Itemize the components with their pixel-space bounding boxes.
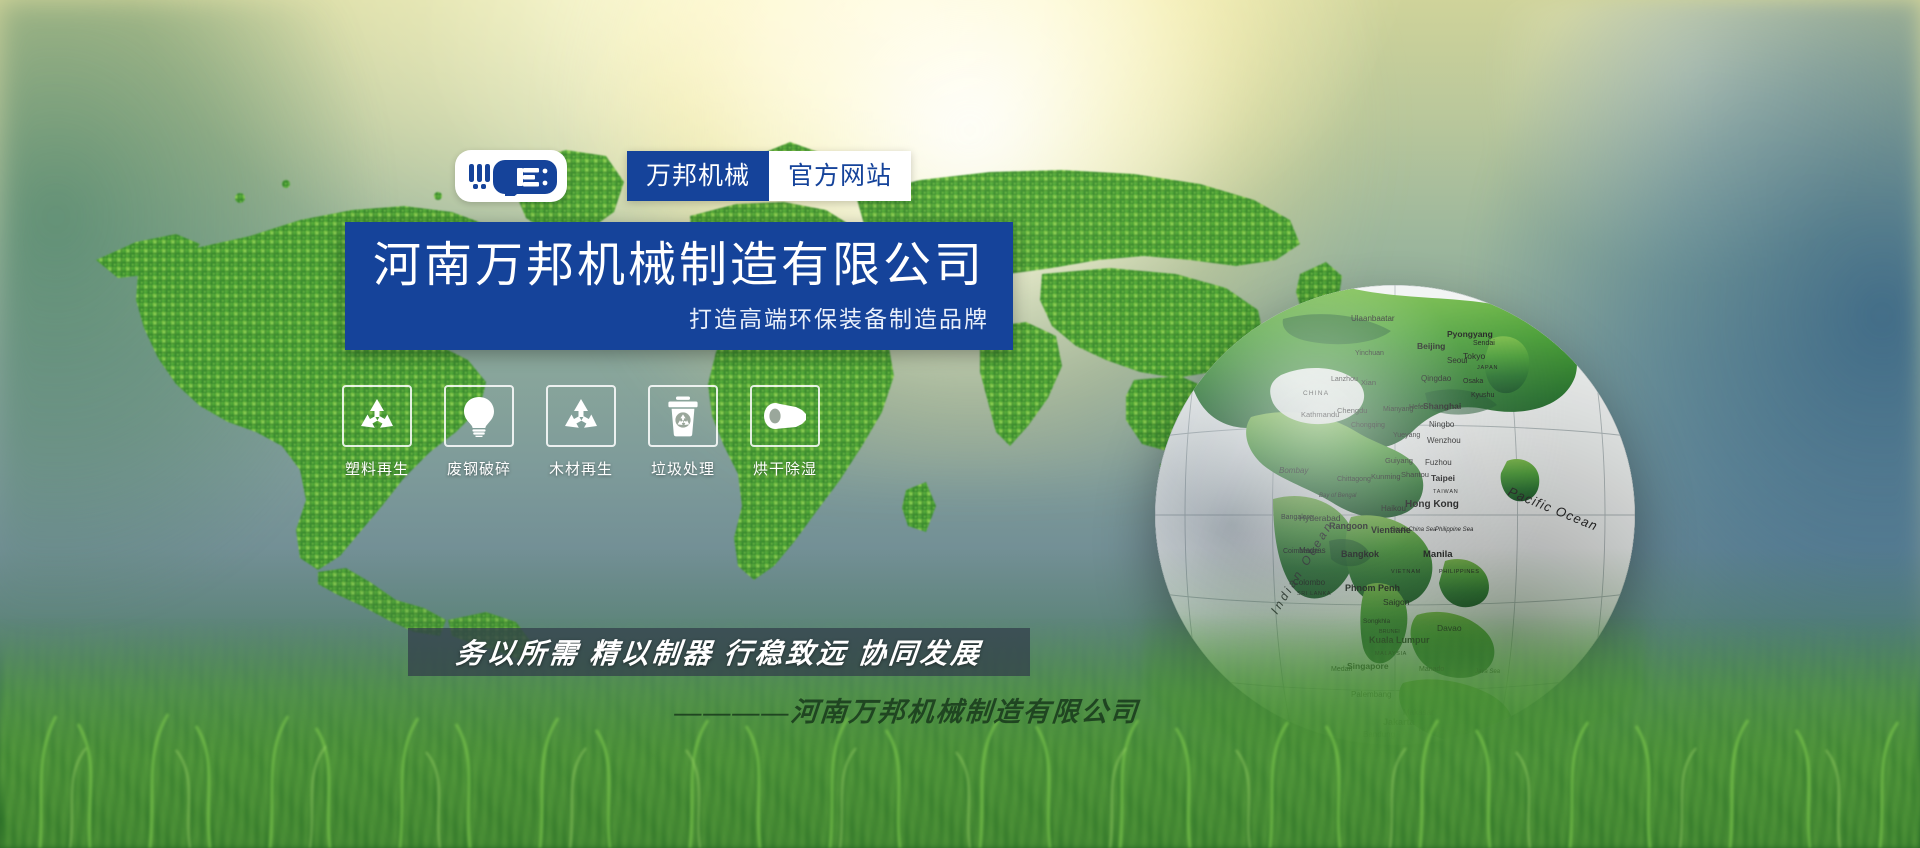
- service-icon-row: 塑料再生 废钢破碎 木材再生: [340, 385, 822, 479]
- tab-official-website[interactable]: 官方网站: [769, 151, 911, 201]
- service-item-scrap-steel-crushing[interactable]: 废钢破碎: [442, 385, 516, 479]
- lightbulb-icon: [444, 385, 514, 447]
- service-label: 废钢破碎: [447, 458, 511, 479]
- nav-tabs: 万邦机械 官方网站: [627, 151, 911, 201]
- service-label: 烘干除湿: [753, 458, 817, 479]
- recycle-icon: [342, 385, 412, 447]
- service-label: 木材再生: [549, 458, 613, 479]
- slogan-bar: 务以所需 精以制器 行稳致远 协同发展: [408, 628, 1030, 676]
- logo[interactable]: [455, 150, 567, 202]
- logo-w-mark: [469, 164, 490, 189]
- tab-wanbang-machinery[interactable]: 万邦机械: [627, 151, 769, 201]
- dryer-drum-icon: [750, 385, 820, 447]
- logo-b-bubble: [493, 160, 557, 196]
- recycle-icon: [546, 385, 616, 447]
- service-item-plastic-recycling[interactable]: 塑料再生: [340, 385, 414, 479]
- service-label: 垃圾处理: [651, 458, 715, 479]
- service-item-waste-treatment[interactable]: 垃圾处理: [646, 385, 720, 479]
- slogan-text: 务以所需 精以制器 行稳致远 协同发展: [454, 632, 984, 672]
- trash-bin-recycle-icon: [648, 385, 718, 447]
- hero-banner-stage: Ulaanbaatar Beijing Yinchuan Lanzhou CHI…: [0, 0, 1920, 848]
- service-item-wood-recycling[interactable]: 木材再生: [544, 385, 618, 479]
- site-header: 万邦机械 官方网站: [455, 150, 911, 202]
- service-item-drying-dehumidifying[interactable]: 烘干除湿: [748, 385, 822, 479]
- company-name: 河南万邦机械制造有限公司: [345, 242, 1013, 290]
- title-banner: 河南万邦机械制造有限公司 打造高端环保装备制造品牌: [345, 222, 1013, 350]
- company-tagline: 打造高端环保装备制造品牌: [345, 290, 1013, 331]
- service-label: 塑料再生: [345, 458, 409, 479]
- slogan-attribution: ————河南万邦机械制造有限公司: [673, 690, 1156, 729]
